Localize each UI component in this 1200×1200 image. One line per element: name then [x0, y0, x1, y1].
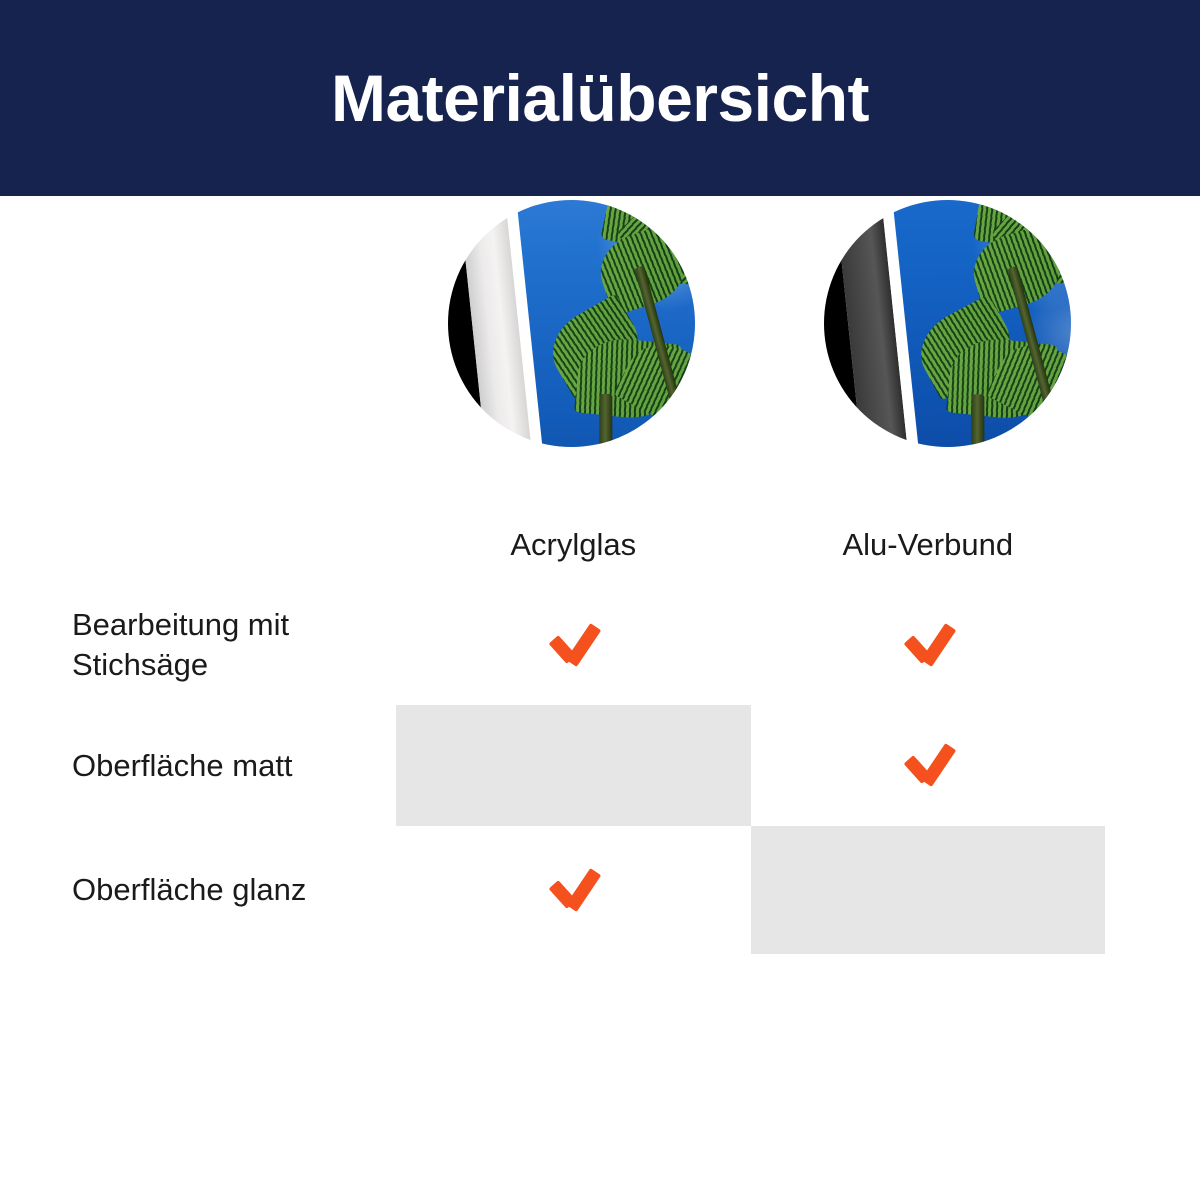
check-icon — [547, 868, 599, 908]
cell-bearbeitung-acrylglas — [396, 585, 751, 705]
row-label-bearbeitung-stichsaege: Bearbeitung mit Stichsäge — [72, 585, 396, 705]
alu-verbund-panel-photo — [824, 200, 1071, 447]
column-header-acrylglas: Acrylglas — [396, 504, 751, 585]
material-comparison-section: Acrylglas Alu-Verbund Bearbeitung mit St… — [0, 472, 1200, 952]
table-row: Oberfläche glanz — [72, 826, 1105, 954]
cell-glanz-acrylglas — [396, 826, 751, 954]
palm-tree-photo — [887, 200, 1071, 447]
cell-glanz-alu-verbund — [751, 826, 1106, 954]
cell-matt-alu-verbund — [751, 705, 1106, 826]
material-preview-acrylglas — [448, 200, 695, 447]
row-label-line1: Bearbeitung mit — [72, 607, 289, 642]
check-icon — [547, 623, 599, 663]
page-title: Materialübersicht — [331, 65, 869, 131]
table-header-row: Acrylglas Alu-Verbund — [72, 504, 1105, 585]
table-row: Oberfläche matt — [72, 705, 1105, 826]
material-preview-row — [0, 196, 1200, 472]
row-label-oberflaeche-matt: Oberfläche matt — [72, 705, 396, 826]
material-preview-alu-verbund — [824, 200, 1071, 447]
acrylglas-panel-photo — [448, 200, 695, 447]
cell-matt-acrylglas — [396, 705, 751, 826]
page-header: Materialübersicht — [0, 0, 1200, 196]
check-icon — [902, 743, 954, 783]
table-row: Bearbeitung mit Stichsäge — [72, 585, 1105, 705]
row-label-oberflaeche-glanz: Oberfläche glanz — [72, 826, 396, 954]
table-corner-cell — [72, 504, 396, 585]
row-label-line2: Stichsäge — [72, 647, 208, 682]
row-label-line1: Oberfläche matt — [72, 748, 293, 783]
column-header-alu-verbund: Alu-Verbund — [751, 504, 1106, 585]
check-icon — [902, 623, 954, 663]
material-comparison-table: Acrylglas Alu-Verbund Bearbeitung mit St… — [72, 504, 1105, 954]
palm-tree-photo — [511, 200, 695, 447]
cell-bearbeitung-alu-verbund — [751, 585, 1106, 705]
row-label-line1: Oberfläche glanz — [72, 872, 306, 907]
